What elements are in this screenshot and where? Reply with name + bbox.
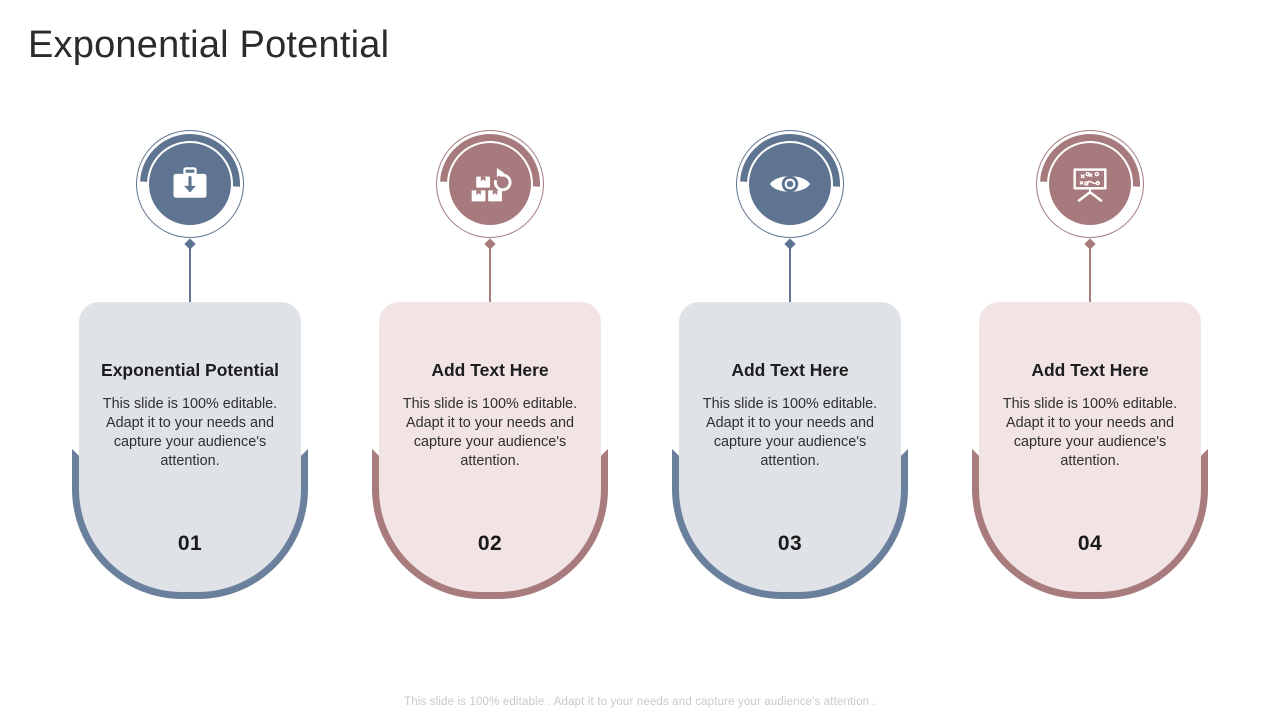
icon-badge-3[interactable] xyxy=(736,130,844,238)
connector-1 xyxy=(184,240,196,302)
infographic-column-1[interactable]: Exponential Potential This slide is 100%… xyxy=(40,130,340,600)
slide-canvas: Exponential Potential xyxy=(0,0,1280,720)
connector-dot-4 xyxy=(1084,238,1095,249)
card-body-1: This slide is 100% editable. Adapt it to… xyxy=(93,395,287,472)
connector-dot-1 xyxy=(184,238,195,249)
content-card-1[interactable]: Exponential Potential This slide is 100%… xyxy=(79,302,301,592)
icon-badge-4[interactable] xyxy=(1036,130,1144,238)
infographic-column-2[interactable]: Add Text Here This slide is 100% editabl… xyxy=(340,130,640,600)
card-heading-2: Add Text Here xyxy=(393,360,587,381)
content-card-2[interactable]: Add Text Here This slide is 100% editabl… xyxy=(379,302,601,592)
icon-badge-1[interactable] xyxy=(136,130,244,238)
card-body-2: This slide is 100% editable. Adapt it to… xyxy=(393,395,587,472)
footer-note: This slide is 100% editable . Adapt it t… xyxy=(0,696,1280,708)
briefcase-download-icon xyxy=(168,162,212,206)
connector-2 xyxy=(484,240,496,302)
connector-line-3 xyxy=(789,247,791,302)
card-heading-4: Add Text Here xyxy=(993,360,1187,381)
card-number-2: 02 xyxy=(379,532,601,556)
connector-3 xyxy=(784,240,796,302)
card-number-1: 01 xyxy=(79,532,301,556)
connector-line-2 xyxy=(489,247,491,302)
infographic-column-3[interactable]: Add Text Here This slide is 100% editabl… xyxy=(640,130,940,600)
card-heading-1: Exponential Potential xyxy=(93,360,287,381)
presentation-board-icon xyxy=(1068,162,1112,206)
badge-disc-2 xyxy=(449,143,531,225)
connector-line-4 xyxy=(1089,247,1091,302)
page-title: Exponential Potential xyxy=(28,24,389,67)
eye-icon xyxy=(767,161,813,207)
connector-line-1 xyxy=(189,247,191,302)
badge-disc-3 xyxy=(749,143,831,225)
infographic-column-4[interactable]: Add Text Here This slide is 100% editabl… xyxy=(940,130,1240,600)
card-heading-3: Add Text Here xyxy=(693,360,887,381)
badge-disc-1 xyxy=(149,143,231,225)
badge-disc-4 xyxy=(1049,143,1131,225)
content-card-3[interactable]: Add Text Here This slide is 100% editabl… xyxy=(679,302,901,592)
card-body-3: This slide is 100% editable. Adapt it to… xyxy=(693,395,887,472)
boxes-refresh-icon xyxy=(468,162,512,206)
content-card-4[interactable]: Add Text Here This slide is 100% editabl… xyxy=(979,302,1201,592)
connector-dot-2 xyxy=(484,238,495,249)
card-number-3: 03 xyxy=(679,532,901,556)
connector-dot-3 xyxy=(784,238,795,249)
card-body-4: This slide is 100% editable. Adapt it to… xyxy=(993,395,1187,472)
card-number-4: 04 xyxy=(979,532,1201,556)
icon-badge-2[interactable] xyxy=(436,130,544,238)
infographic-columns: Exponential Potential This slide is 100%… xyxy=(0,130,1280,600)
connector-4 xyxy=(1084,240,1096,302)
